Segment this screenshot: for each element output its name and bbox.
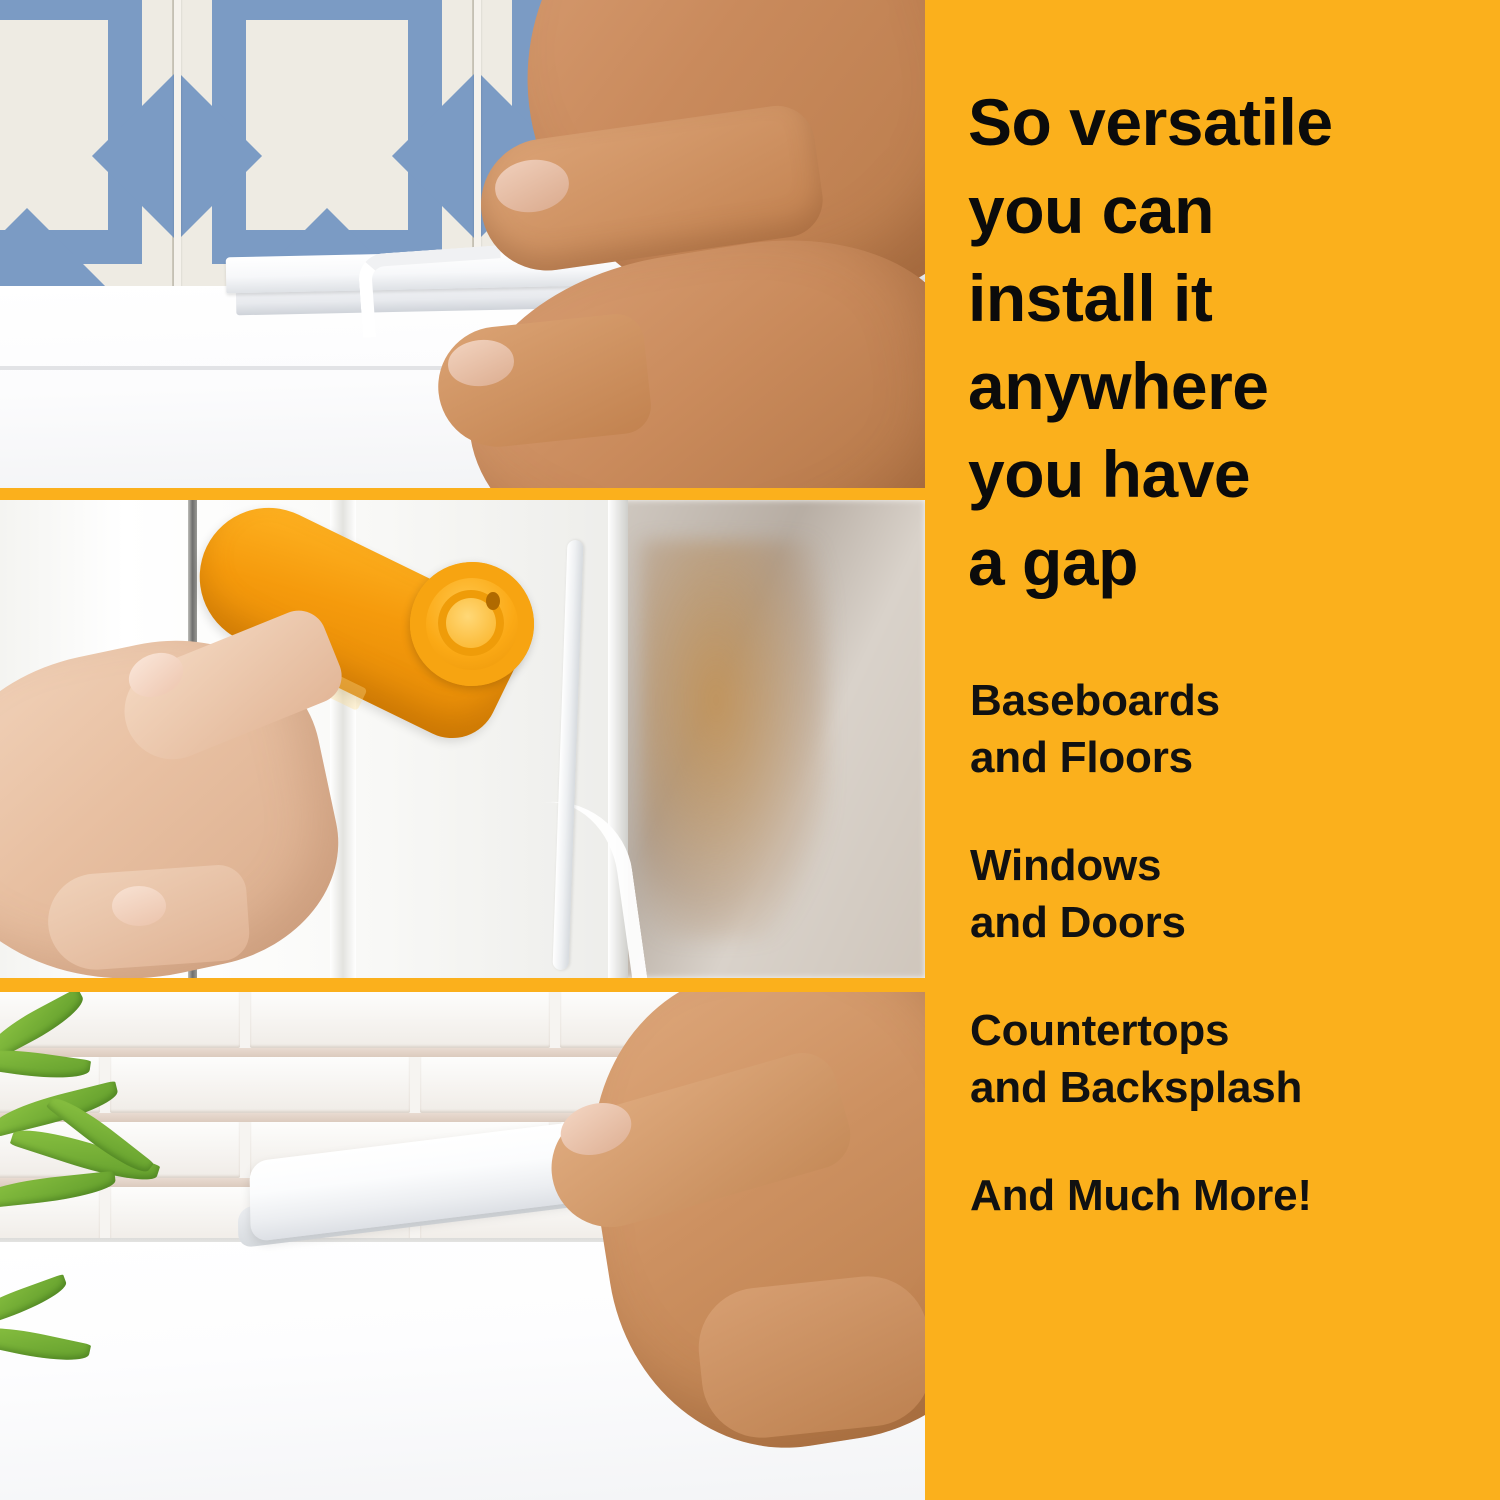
headline-line-1: So versatile — [968, 78, 1488, 166]
headline-line-4: anywhere — [968, 342, 1488, 430]
feature-item-countertops-line-2: and Backsplash — [970, 1059, 1490, 1116]
feature-item-countertops-line-1: Countertops — [970, 1002, 1490, 1059]
headline-line-5: you have — [968, 430, 1488, 518]
glass-reflection — [640, 540, 830, 940]
feature-item-windows-line-2: and Doors — [970, 894, 1490, 951]
headline-line-6: a gap — [968, 518, 1488, 606]
feature-list: Baseboards and Floors Windows and Doors … — [970, 672, 1490, 1224]
headline: So versatile you can install it anywhere… — [968, 78, 1488, 606]
tile-pattern — [0, 0, 174, 290]
tile-grout-line — [174, 0, 181, 300]
tool-vent-hole — [486, 592, 500, 610]
feature-item-windows-line-1: Windows — [970, 837, 1490, 894]
photo-backsplash-tile — [0, 0, 925, 488]
hand-knuckle — [693, 1270, 925, 1443]
brick — [110, 1057, 410, 1113]
headline-line-3: install it — [968, 254, 1488, 342]
caulk-strip-tail — [357, 245, 505, 338]
text-panel: So versatile you can install it anywhere… — [925, 0, 1500, 1500]
feature-item-countertops: Countertops and Backsplash — [970, 1002, 1490, 1116]
tile-pattern — [180, 0, 474, 290]
feature-item-more-line-1: And Much More! — [970, 1167, 1490, 1224]
fingernail — [112, 886, 166, 926]
feature-item-baseboards: Baseboards and Floors — [970, 672, 1490, 786]
feature-item-more: And Much More! — [970, 1167, 1490, 1224]
brick — [250, 992, 550, 1048]
feature-item-windows: Windows and Doors — [970, 837, 1490, 951]
feature-item-baseboards-line-1: Baseboards — [970, 672, 1490, 729]
headline-line-2: you can — [968, 166, 1488, 254]
photo-countertop-backsplash — [0, 992, 925, 1500]
photo-window-door — [0, 500, 925, 978]
photo-column — [0, 0, 925, 1500]
feature-item-baseboards-line-2: and Floors — [970, 729, 1490, 786]
product-infographic: So versatile you can install it anywhere… — [0, 0, 1500, 1500]
